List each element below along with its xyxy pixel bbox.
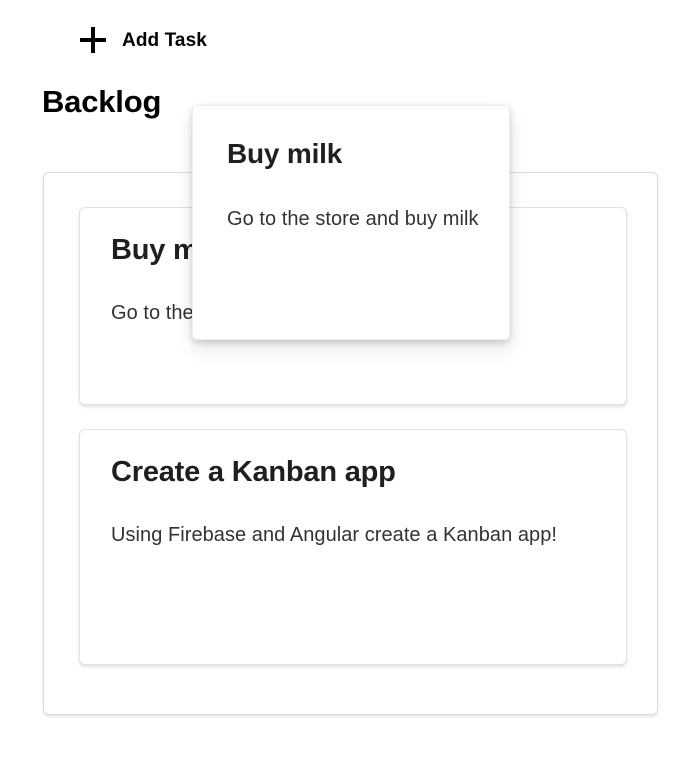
- drag-preview-title: Buy milk: [227, 138, 483, 170]
- add-task-button[interactable]: Add Task: [72, 20, 215, 60]
- task-card-description: Using Firebase and Angular create a Kanb…: [111, 521, 596, 551]
- plus-icon: [80, 27, 106, 53]
- task-card-title: Create a Kanban app: [111, 456, 596, 489]
- add-task-label: Add Task: [122, 31, 207, 50]
- drag-preview-card[interactable]: Buy milk Go to the store and buy milk: [192, 105, 510, 340]
- drag-preview-description: Go to the store and buy milk: [227, 204, 483, 234]
- toolbar: Add Task: [0, 0, 694, 78]
- column-title-backlog: Backlog: [42, 83, 161, 120]
- task-card[interactable]: Create a Kanban app Using Firebase and A…: [79, 429, 627, 665]
